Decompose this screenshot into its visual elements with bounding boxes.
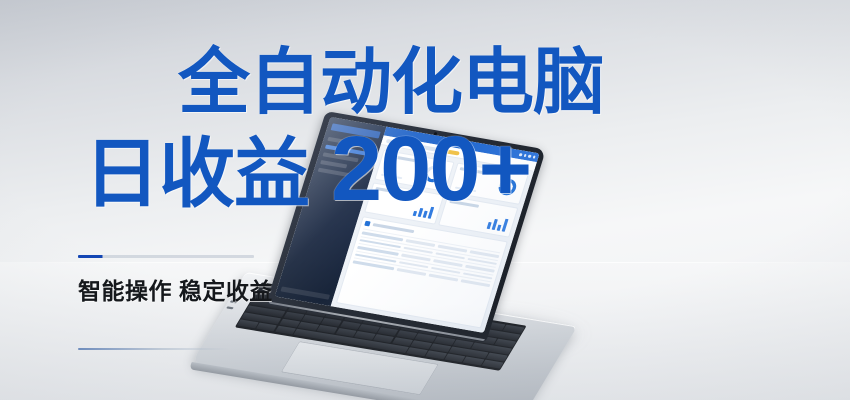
- sidebar-footer: [281, 286, 331, 299]
- subtitle: 智能操作 稳定收益: [78, 272, 273, 306]
- headline-number: 200+: [331, 118, 530, 220]
- table-icon: [365, 221, 372, 227]
- headline-line-1: 全自动化电脑: [178, 44, 850, 122]
- promo-banner: 全自动化电脑 日收益200+ 智能操作 稳定收益: [0, 0, 850, 400]
- divider-top: [78, 255, 254, 258]
- divider-bottom: [78, 348, 230, 350]
- headline-line-2: 日收益200+: [84, 128, 850, 216]
- headline-line-2-text: 日收益: [84, 132, 309, 217]
